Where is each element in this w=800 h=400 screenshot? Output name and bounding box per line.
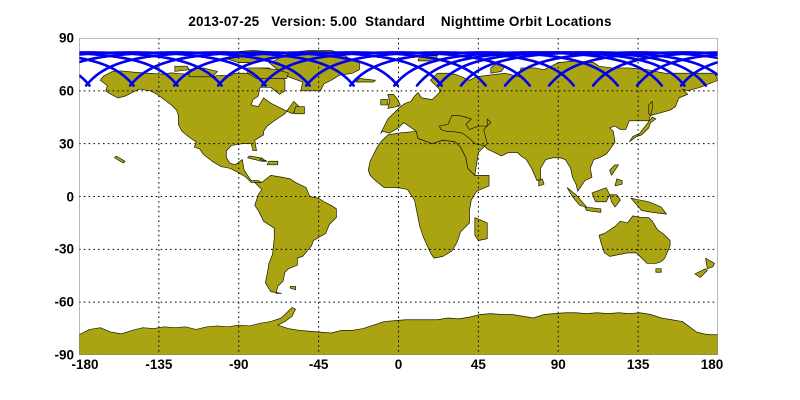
page-title: 2013-07-25 Version: 5.00 Standard Nightt… (0, 14, 800, 29)
y-tick-label: -30 (54, 243, 74, 257)
y-tick-label: -60 (54, 295, 74, 309)
y-axis-ticks: 9060300-30-60-90 (0, 0, 74, 400)
x-tick-label: -180 (71, 357, 98, 372)
landmass-ireland (381, 100, 388, 105)
x-tick-label: -45 (309, 357, 329, 372)
landmass-tasmania (656, 269, 661, 273)
orbit-map-figure: 2013-07-25 Version: 5.00 Standard Nightt… (0, 0, 800, 400)
x-tick-label: 0 (395, 357, 403, 372)
x-tick-label: 90 (551, 357, 566, 372)
x-tick-label: 135 (627, 357, 650, 372)
y-tick-label: 0 (66, 190, 74, 204)
x-tick-label: 180 (701, 357, 724, 372)
landmass-newfoundland (294, 107, 305, 114)
y-tick-label: 30 (59, 137, 74, 151)
x-tick-label: -135 (145, 357, 172, 372)
plot-area (79, 38, 718, 355)
world-map-svg (79, 38, 718, 355)
y-tick-label: 60 (59, 84, 74, 98)
x-tick-label: 45 (471, 357, 486, 372)
y-tick-label: 90 (59, 31, 74, 45)
landmass-hispaniola (267, 161, 278, 165)
x-tick-label: -90 (229, 357, 249, 372)
